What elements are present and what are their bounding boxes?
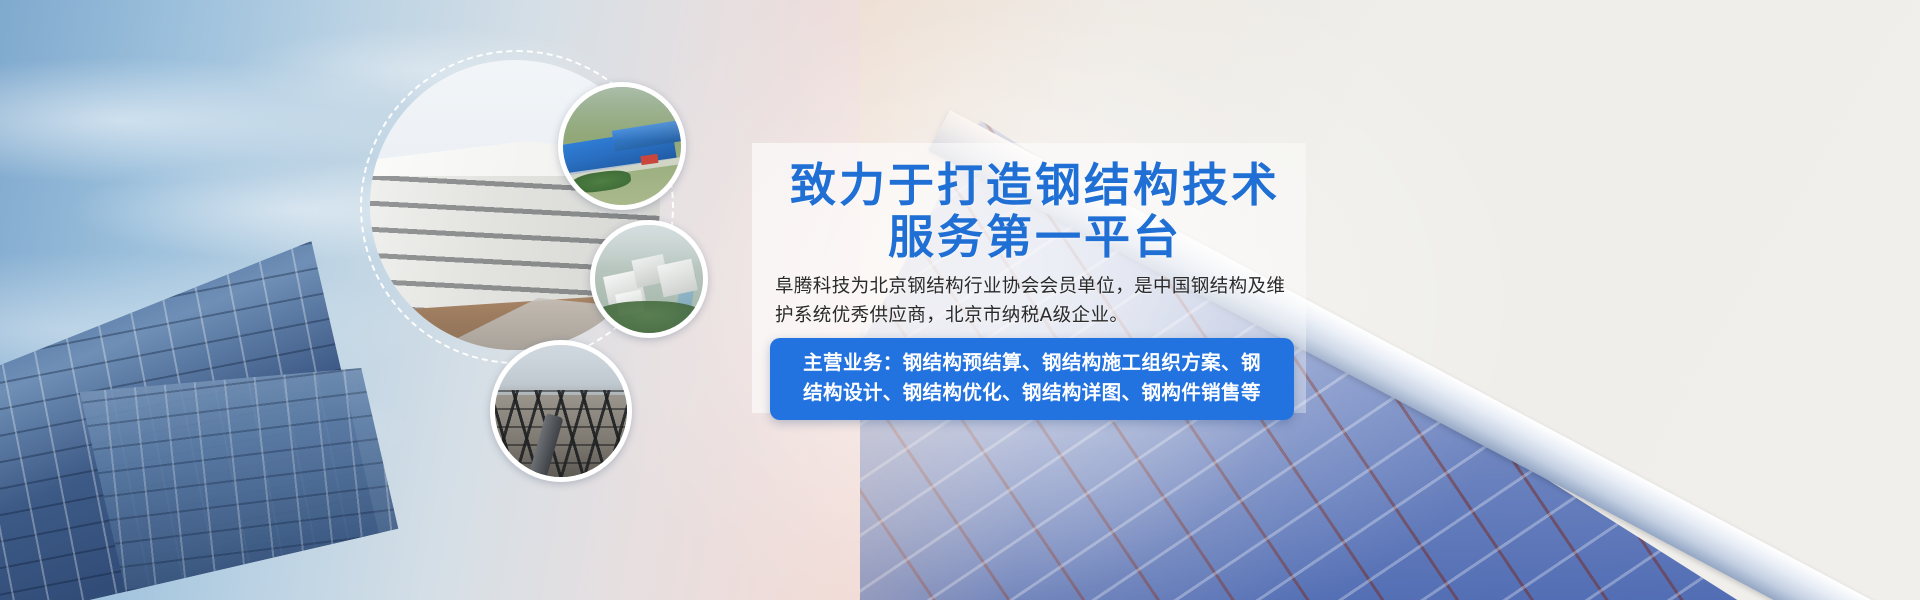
hero-banner: 致力于打造钢结构技术 服务第一平台 阜腾科技为北京钢结构行业协会会员单位，是中国…: [0, 0, 1920, 600]
business-scope-line-1: 主营业务：钢结构预结算、钢结构施工组织方案、钢: [784, 348, 1280, 378]
description-text: 阜腾科技为北京钢结构行业协会会员单位，是中国钢结构及维 护系统优秀供应商，北京市…: [775, 272, 1295, 330]
business-scope-line-2: 结构设计、钢结构优化、钢结构详图、钢构件销售等: [784, 378, 1280, 408]
headline: 致力于打造钢结构技术 服务第一平台: [770, 160, 1300, 264]
headline-line-1: 致力于打造钢结构技术: [790, 160, 1280, 211]
thumb-photo-factory-aerial: [558, 82, 686, 210]
photo-circle-cluster: [330, 40, 750, 490]
thumb2-haze: [595, 225, 703, 333]
description-line-1: 阜腾科技为北京钢结构行业协会会员单位，是中国钢结构及维: [775, 276, 1285, 297]
thumb-photo-steel-truss: [490, 340, 632, 482]
thumb3-haze: [495, 345, 627, 477]
thumb-photo-office-park-aerial: [590, 220, 708, 338]
headline-line-2: 服务第一平台: [770, 212, 1300, 264]
business-scope-box: 主营业务：钢结构预结算、钢结构施工组织方案、钢 结构设计、钢结构优化、钢结构详图…: [770, 338, 1294, 420]
thumb1-haze: [563, 87, 681, 205]
description-line-2: 护系统优秀供应商，北京市纳税A级企业。: [775, 305, 1128, 326]
